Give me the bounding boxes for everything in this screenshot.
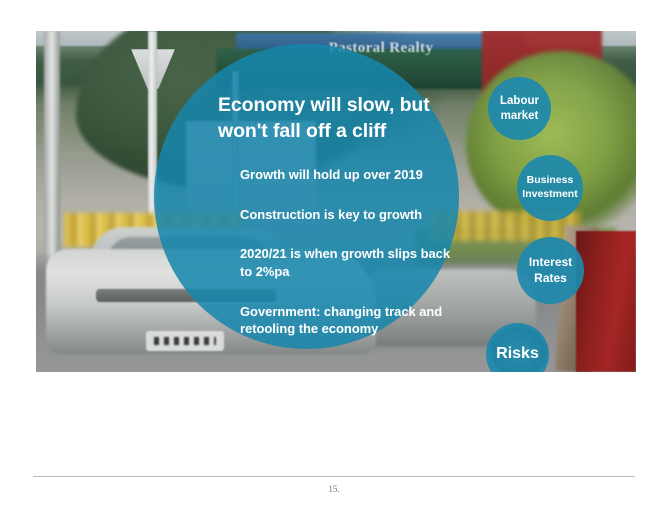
bullet-item: 2020/21 is when growth slips back to 2%p…	[240, 245, 455, 280]
bullet-item: Construction is key to growth	[240, 206, 455, 224]
topic-circle-interest-rates[interactable]: Interest Rates	[517, 237, 584, 304]
topic-circle-label: Labour market	[488, 94, 551, 124]
main-message-circle: Economy will slow, but won't fall off a …	[154, 44, 459, 349]
page-number: 15.	[0, 484, 668, 494]
topic-circle-labour-market[interactable]: Labour market	[488, 77, 551, 140]
bullet-list: Growth will hold up over 2019 Constructi…	[240, 166, 455, 338]
bullet-item: Growth will hold up over 2019	[240, 166, 455, 184]
topic-circle-business-investment[interactable]: Business Investment	[517, 155, 583, 221]
topic-circle-label: Risks	[496, 344, 539, 365]
footer-divider	[33, 476, 635, 477]
slide-title: Economy will slow, but won't fall off a …	[218, 93, 453, 144]
bullet-item: Government: changing track and retooling…	[240, 303, 455, 338]
slide-canvas: Pastoral Realty Economy will slow, but w…	[36, 31, 636, 372]
topic-circle-label: Business Investment	[517, 174, 583, 201]
topic-circle-label: Interest Rates	[517, 255, 584, 286]
